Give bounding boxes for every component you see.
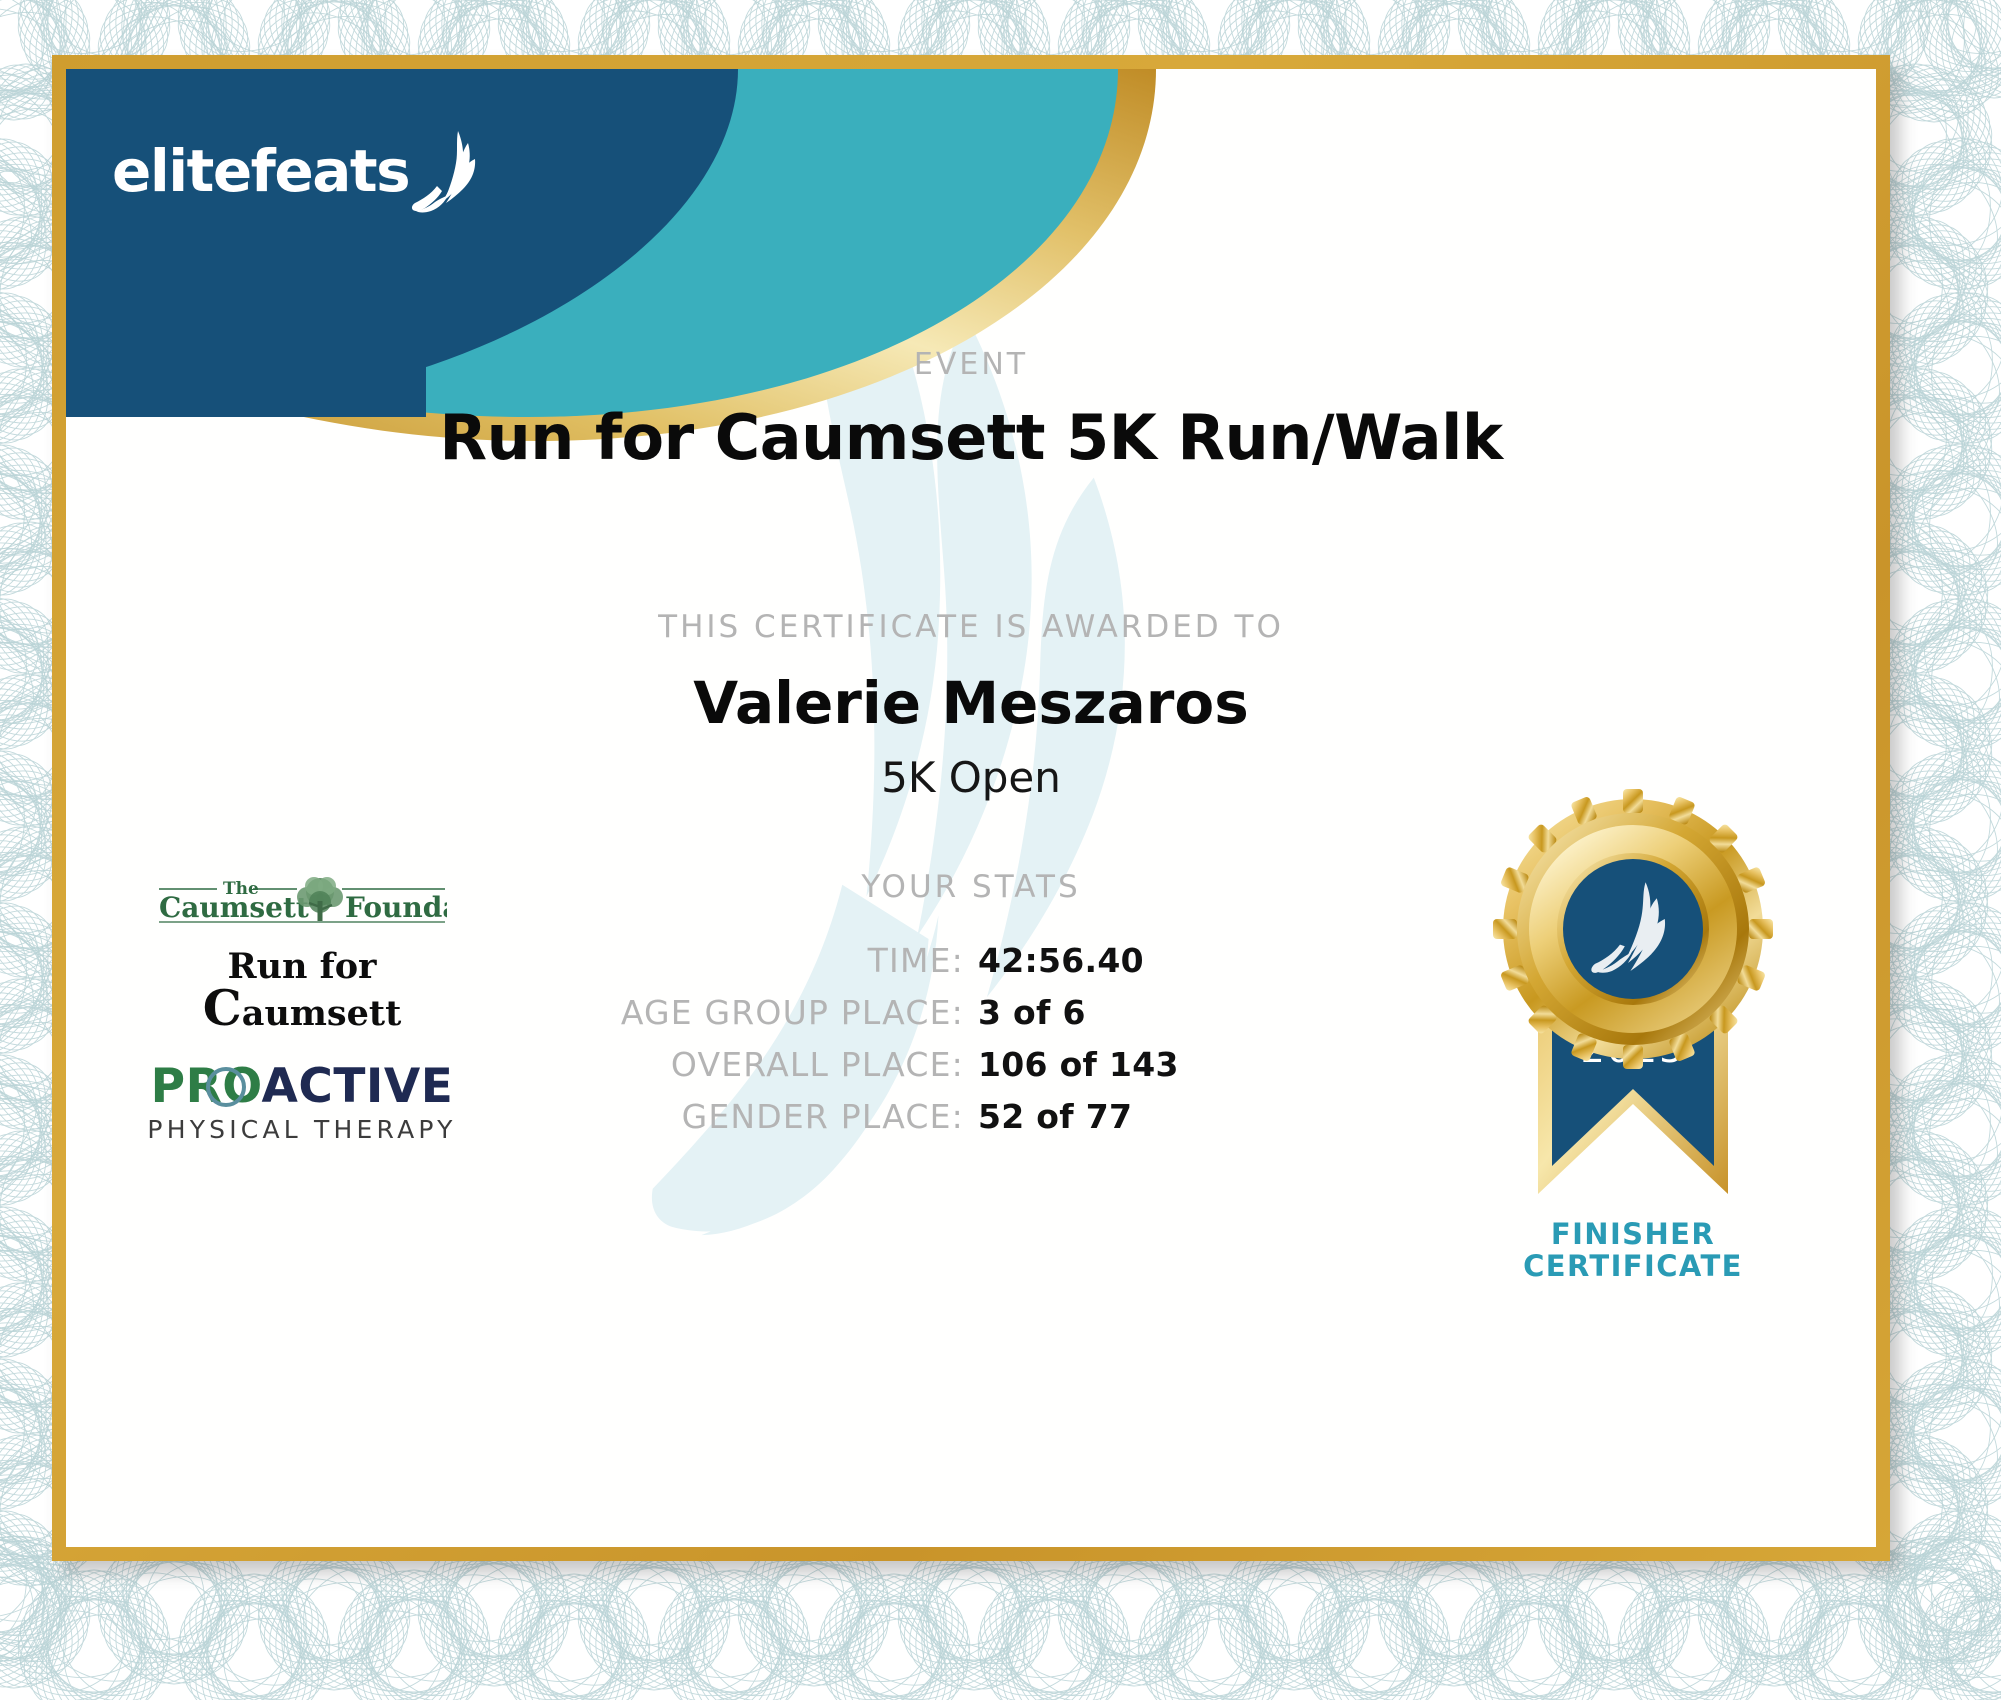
medal-disc [1493,789,1773,1069]
stat-value: 52 of 77 [964,1097,1410,1136]
recipient-name: Valerie Meszaros [66,669,1876,737]
finisher-medal-badge: 2023 [1468,774,1798,1283]
finisher-caption-line1: FINISHER [1468,1218,1798,1250]
svg-text:Foundation: Foundation [345,891,447,924]
stat-value: 106 of 143 [964,1045,1410,1084]
certificate-page: elitefeats EVENT Run for Caumsett 5K Run… [0,0,2001,1700]
certificate-body: elitefeats EVENT Run for Caumsett 5K Run… [66,69,1876,1547]
run-for-caumsett-initial: C [203,979,242,1037]
run-for-caumsett-logo: Run for Caumsett [132,949,472,1033]
run-for-caumsett-prefix: Run for [227,946,376,987]
stat-label: GENDER PLACE: [532,1097,964,1136]
proactive-physical-therapy-logo: PROACTIVE PHYSICAL THERAPY [132,1063,472,1144]
certificate-content: EVENT Run for Caumsett 5K Run/Walk THIS … [66,69,1876,1547]
caumsett-foundation-logo: The Caumsett Foundation [132,869,472,931]
finisher-certificate-caption: FINISHER CERTIFICATE [1468,1218,1798,1283]
awarded-to-label: THIS CERTIFICATE IS AWARDED TO [66,609,1876,645]
stat-label: TIME: [532,941,964,980]
stat-label: OVERALL PLACE: [532,1045,964,1084]
proactive-ring-icon [206,1067,246,1107]
certificate-gold-frame: elitefeats EVENT Run for Caumsett 5K Run… [52,55,1890,1561]
stat-label: AGE GROUP PLACE: [532,993,964,1032]
proactive-subtitle: PHYSICAL THERAPY [132,1115,472,1144]
stat-value: 3 of 6 [964,993,1410,1032]
run-for-caumsett-suffix: aumsett [242,993,401,1034]
proactive-wordmark: PROACTIVE [151,1063,454,1110]
finisher-caption-line2: CERTIFICATE [1468,1250,1798,1282]
event-eyebrow-label: EVENT [66,347,1876,382]
elitefeats-logo: elitefeats [112,129,479,213]
svg-text:Caumsett: Caumsett [159,891,309,924]
sponsor-logos: The Caumsett Foundation [132,869,472,1162]
event-title: Run for Caumsett 5K Run/Walk [66,401,1876,474]
stat-value: 42:56.40 [964,941,1410,980]
winged-foot-icon [411,129,479,213]
proactive-active-text: ACTIVE [261,1059,453,1114]
brand-wordmark: elitefeats [112,142,409,200]
